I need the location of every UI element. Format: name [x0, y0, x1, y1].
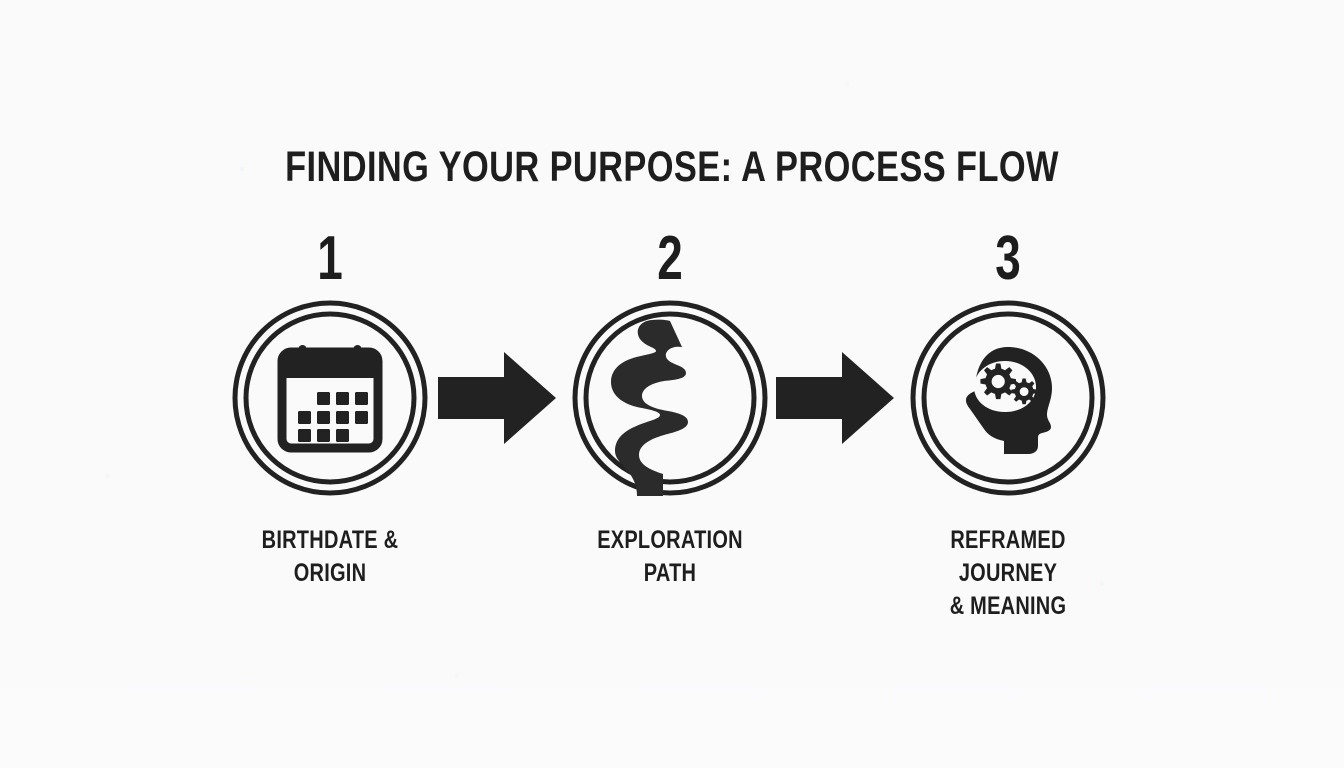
gear-large-hub: [992, 375, 1005, 388]
arrow-right-icon: [438, 350, 556, 446]
step-1-badge: [200, 300, 460, 496]
step-3-label: REFRAMED JOURNEY & MEANING: [904, 524, 1112, 623]
connector-arrow-2: [776, 350, 894, 446]
step-1-label: BIRTHDATE & ORIGIN: [226, 524, 434, 590]
step-2-label: EXPLORATION PATH: [566, 524, 774, 590]
calendar-icon: [232, 300, 428, 496]
step-2-label-line2: PATH: [566, 557, 774, 590]
step-1-label-line2: ORIGIN: [226, 557, 434, 590]
step-1-label-line1: BIRTHDATE &: [262, 526, 399, 554]
page-title: FINDING YOUR PURPOSE: A PROCESS FLOW: [134, 142, 1209, 192]
step-2-badge: [540, 300, 800, 496]
steps-row: 1: [0, 228, 1344, 608]
step-3[interactable]: 3: [878, 228, 1138, 623]
step-3-badge: [878, 300, 1138, 496]
step-3-number: 3: [912, 228, 1104, 290]
winding-path-icon: [572, 300, 768, 496]
step-2-number: 2: [574, 228, 766, 290]
step-2[interactable]: 2 EXPLORATION PATH: [540, 228, 800, 590]
process-flow-diagram: FINDING YOUR PURPOSE: A PROCESS FLOW 1: [0, 0, 1344, 768]
gear-small-hub: [1020, 387, 1029, 396]
step-2-label-line1: EXPLORATION: [597, 526, 743, 554]
arrow-right-icon: [776, 350, 894, 446]
step-1-number: 1: [234, 228, 426, 290]
step-3-label-line1: REFRAMED JOURNEY: [950, 526, 1065, 587]
step-1[interactable]: 1: [200, 228, 460, 590]
step-3-label-line2: & MEANING: [904, 590, 1112, 623]
head-with-gears-icon: [910, 300, 1106, 496]
connector-arrow-1: [438, 350, 556, 446]
